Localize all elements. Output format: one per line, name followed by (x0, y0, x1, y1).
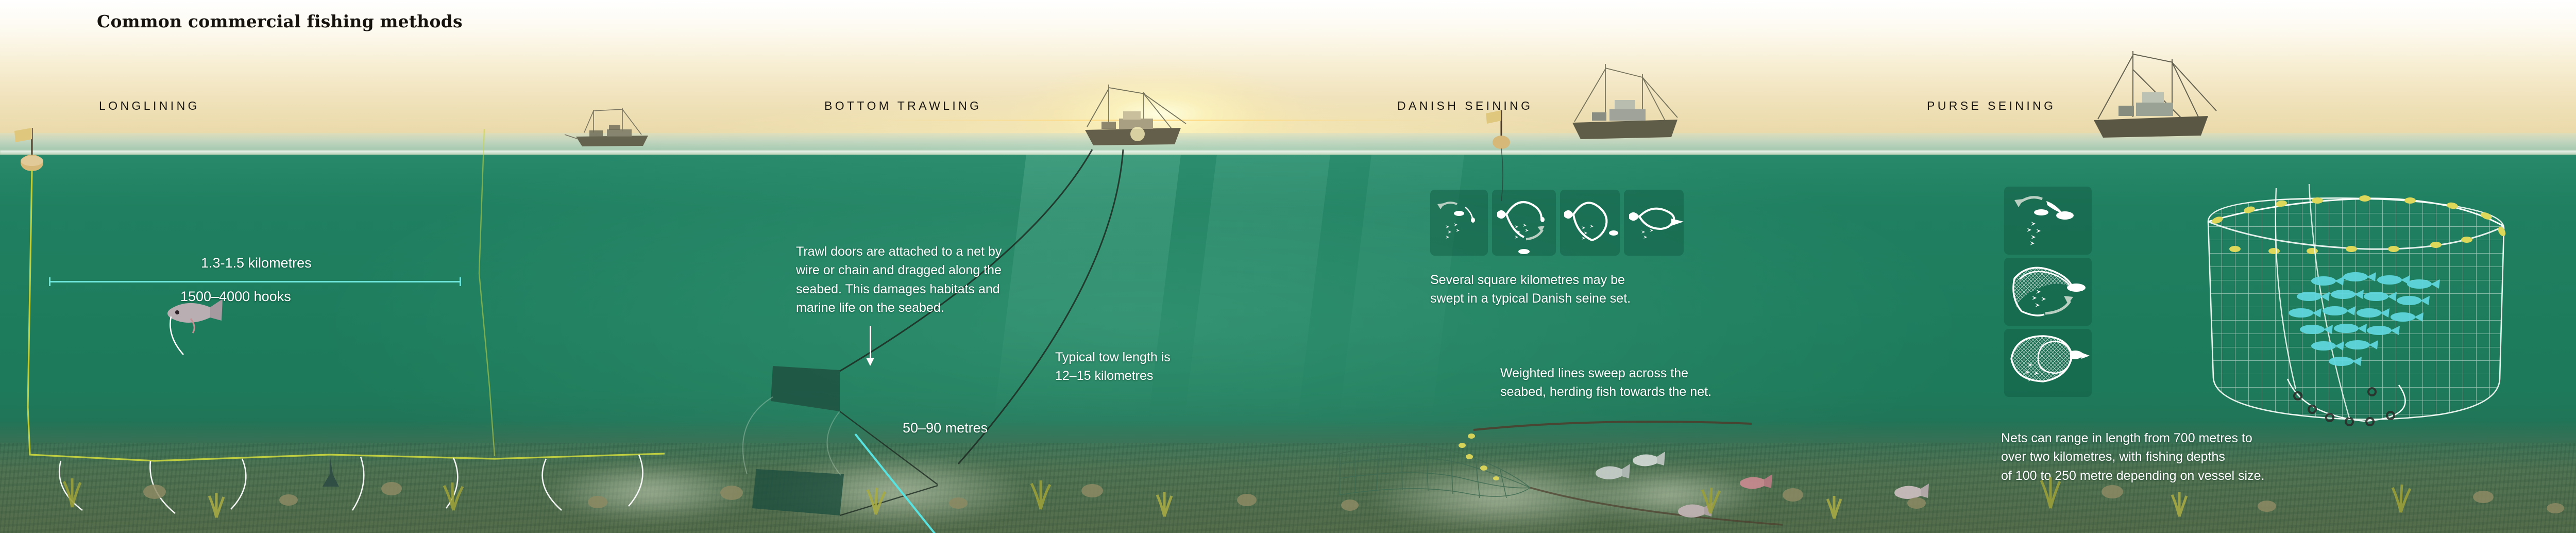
danish-seine-caption-line: swept in a typical Danish seine set. (1430, 289, 1698, 308)
purse-seine-stage-1[interactable] (2004, 187, 2092, 255)
longline-length-measure (49, 281, 461, 282)
danish-seine-caption-line: Several square kilometres may be (1430, 271, 1698, 289)
longline-buoy (14, 128, 43, 171)
trawl-door (771, 366, 840, 411)
trawl-description-line: wire or chain and dragged along the (796, 261, 1012, 279)
trawl-description: Trawl doors are attached to a net by wir… (796, 242, 1012, 317)
trawl-description-line: Trawl doors are attached to a net by (796, 242, 1012, 261)
danish-seiner-vessel (1556, 62, 1690, 152)
longline-hooks-label: 1500–4000 hooks (180, 289, 291, 305)
seaweed-cluster (64, 477, 2410, 519)
trawl-description-line: seabed. This damages habitats and (796, 280, 1012, 298)
section-label-purse-seining: PURSE SEINING (1927, 99, 2056, 113)
danish-seine-sweep-line: Weighted lines sweep across the (1500, 364, 1789, 382)
trawl-tow-length-note: Typical tow length is 12–15 kilometres (1055, 348, 1261, 386)
danish-seine-stage-3[interactable] (1560, 190, 1620, 256)
hooked-fish (167, 299, 223, 355)
purse-seine-stage-2[interactable] (2004, 258, 2092, 326)
section-label-longlining: LONGLINING (99, 99, 200, 113)
seabed-life (0, 414, 2576, 533)
danish-seine-caption: Several square kilometres may be swept i… (1430, 271, 1698, 308)
section-label-bottom-trawling: BOTTOM TRAWLING (824, 99, 981, 113)
purse-seine-stage-3[interactable] (2004, 329, 2092, 397)
page-title: Common commercial fishing methods (97, 11, 463, 31)
trawl-description-line: marine life on the seabed. (796, 298, 1012, 317)
seabed-rocks (143, 482, 2564, 513)
trawl-down-arrow (870, 326, 871, 365)
danish-seine-stage-4[interactable] (1624, 190, 1684, 256)
bottom-trawler-vessel (1072, 82, 1200, 157)
purse-seiner-vessel (2071, 49, 2226, 152)
trawl-tow-length-line: 12–15 kilometres (1055, 367, 1261, 385)
trawl-tow-length-line: Typical tow length is (1055, 348, 1261, 367)
infographic-canvas: Common commercial fishing methods LONGLI… (0, 0, 2576, 533)
longline-length-label: 1.3-1.5 kilometres (201, 255, 312, 271)
longline-secondary-dropline (479, 129, 495, 456)
danish-seine-buoy (1479, 103, 1561, 206)
